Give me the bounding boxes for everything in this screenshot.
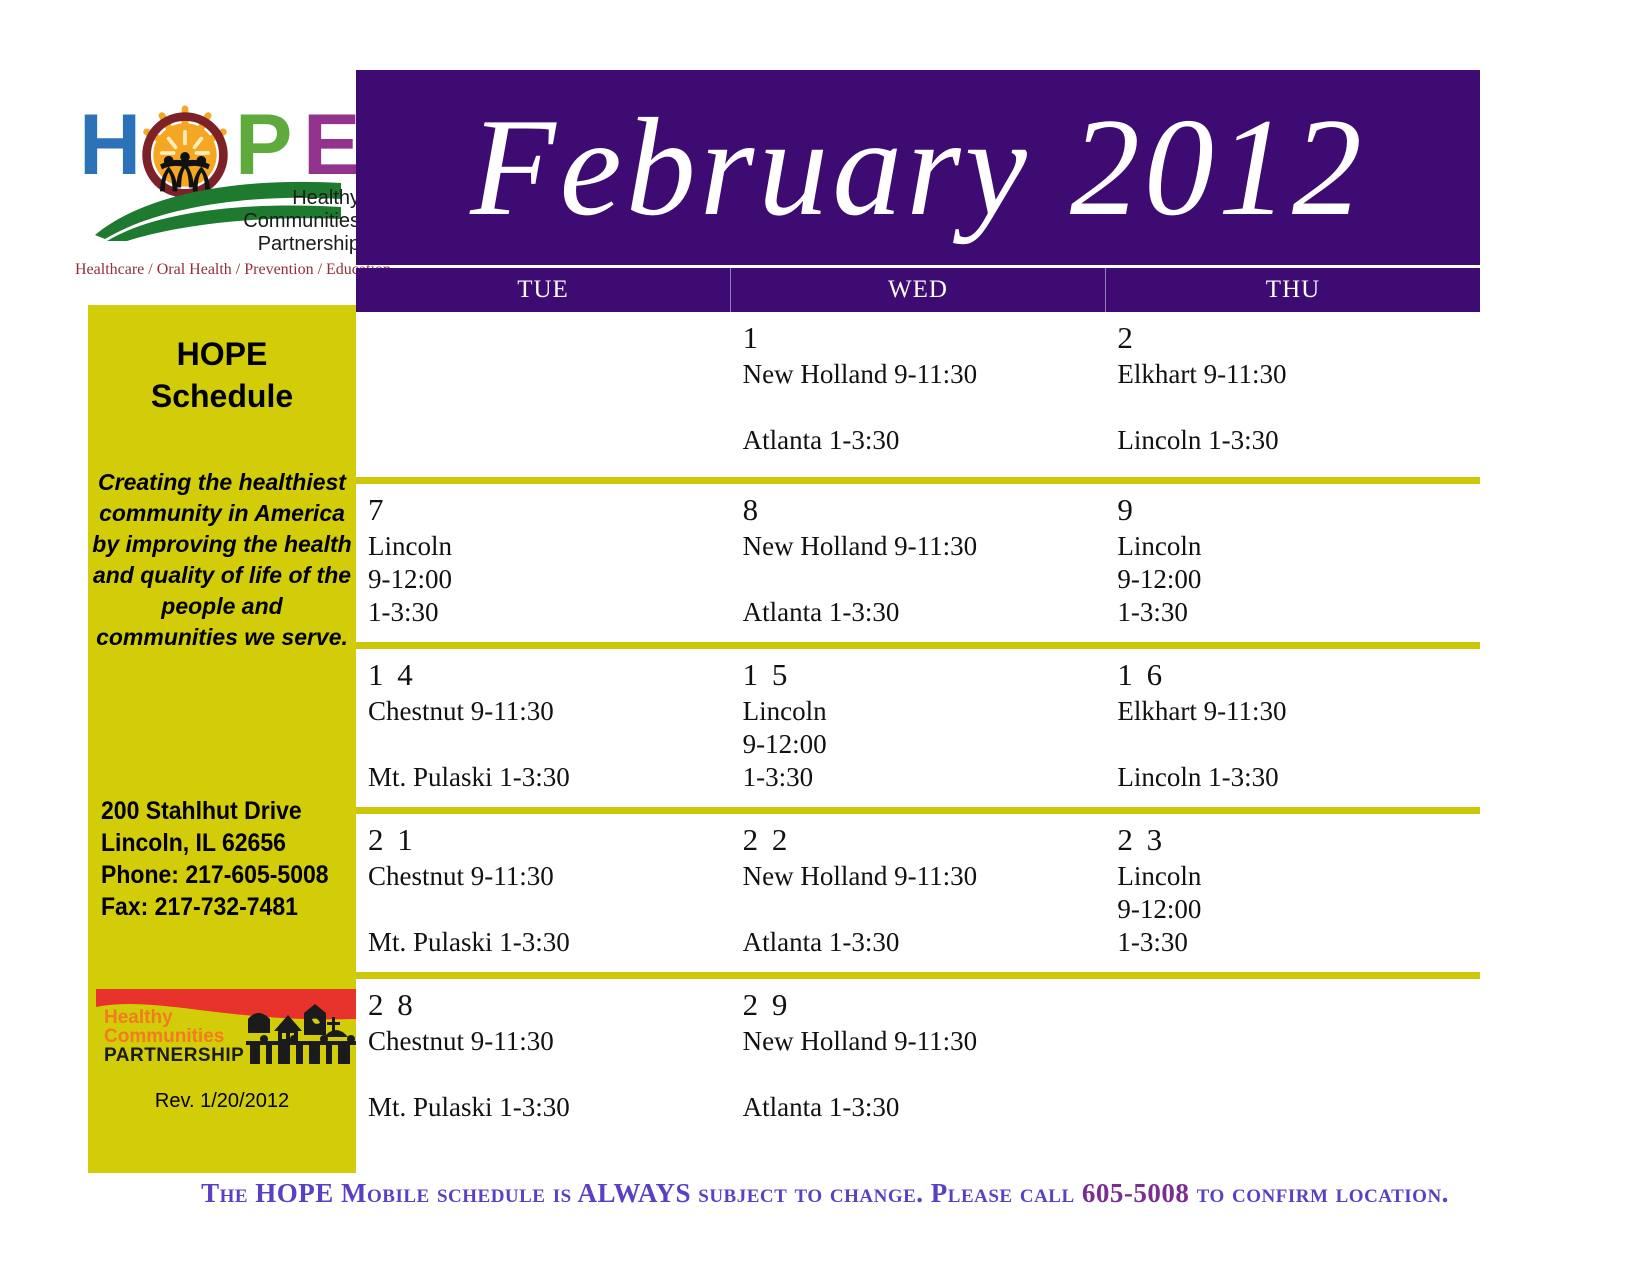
calendar-week-row: 7 Lincoln 9-12:00 1-3:30 8 New Holland 9… — [356, 477, 1480, 642]
day-number: 9 — [1117, 492, 1480, 528]
calendar-week-row: 2 8 Chestnut 9-11:30 Mt. Pulaski 1-3:30 … — [356, 972, 1480, 1137]
calendar-day-cell[interactable]: 1 4 Chestnut 9-11:30 Mt. Pulaski 1-3:30 — [356, 649, 731, 807]
day-header-thu: THU — [1106, 268, 1480, 312]
calendar-day-cell[interactable]: 2 2 New Holland 9-11:30 Atlanta 1-3:30 — [731, 814, 1106, 972]
day-events: Lincoln 9-12:00 1-3:30 — [368, 530, 731, 629]
day-number: 2 — [1117, 320, 1480, 356]
day-number: 1 6 — [1117, 657, 1480, 693]
day-number: 2 2 — [743, 822, 1106, 858]
day-of-week-header-row: TUE WED THU — [356, 268, 1480, 312]
calendar-week-row: 1 New Holland 9-11:30 Atlanta 1-3:30 2 E… — [356, 312, 1480, 477]
day-number: 2 9 — [743, 987, 1106, 1023]
calendar-day-cell[interactable]: 2 3 Lincoln 9-12:00 1-3:30 — [1105, 814, 1480, 972]
footer-text-part-1: The HOPE Mobile schedule is ALWAYS subje… — [201, 1178, 1082, 1208]
calendar-day-cell[interactable]: 1 6 Elkhart 9-11:30 Lincoln 1-3:30 — [1105, 649, 1480, 807]
footer-text-part-2: to confirm location. — [1189, 1178, 1449, 1208]
calendar-day-cell[interactable]: 2 8 Chestnut 9-11:30 Mt. Pulaski 1-3:30 — [356, 979, 731, 1137]
day-number: 1 5 — [743, 657, 1106, 693]
footer-phone-number: 605-5008 — [1082, 1178, 1190, 1208]
calendar-day-cell[interactable]: 7 Lincoln 9-12:00 1-3:30 — [356, 484, 731, 642]
revision-date: Rev. 1/20/2012 — [88, 1090, 356, 1113]
day-events: Lincoln 9-12:00 1-3:30 — [743, 695, 1106, 794]
day-events: New Holland 9-11:30 Atlanta 1-3:30 — [743, 358, 1106, 457]
day-number: 8 — [743, 492, 1106, 528]
calendar-day-cell[interactable]: 9 Lincoln 9-12:00 1-3:30 — [1105, 484, 1480, 642]
day-number: 2 3 — [1117, 822, 1480, 858]
calendar-day-cell[interactable]: 2 9 New Holland 9-11:30 Atlanta 1-3:30 — [731, 979, 1106, 1137]
logo-subtitle: Healthy Communities Partnership — [200, 187, 360, 256]
healthy-communities-partnership-badge-icon: Healthy Communities PARTNERSHIP — [96, 989, 356, 1064]
day-number: 1 — [743, 320, 1106, 356]
page-title: February 2012 — [356, 70, 1480, 265]
day-number: 1 4 — [368, 657, 731, 693]
contact-address-block: 200 Stahlhut Drive Lincoln, IL 62656 Pho… — [101, 795, 336, 923]
badge-line-2: Communities — [104, 1026, 224, 1047]
calendar-day-cell[interactable]: 8 New Holland 9-11:30 Atlanta 1-3:30 — [731, 484, 1106, 642]
day-events: New Holland 9-11:30 Atlanta 1-3:30 — [743, 860, 1106, 959]
month-header-bar: February 2012 — [356, 70, 1480, 265]
calendar-week-row: 2 1 Chestnut 9-11:30 Mt. Pulaski 1-3:30 … — [356, 807, 1480, 972]
hope-logo: H P E — [75, 95, 360, 285]
day-events: Lincoln 9-12:00 1-3:30 — [1117, 530, 1480, 629]
day-events: Elkhart 9-11:30 Lincoln 1-3:30 — [1117, 358, 1480, 457]
calendar-grid: 1 New Holland 9-11:30 Atlanta 1-3:30 2 E… — [356, 312, 1480, 1160]
day-events: Elkhart 9-11:30 Lincoln 1-3:30 — [1117, 695, 1480, 794]
footer-disclaimer: The HOPE Mobile schedule is ALWAYS subje… — [0, 1178, 1650, 1209]
calendar-day-cell[interactable]: 1 New Holland 9-11:30 Atlanta 1-3:30 — [731, 312, 1106, 477]
day-events: Lincoln 9-12:00 1-3:30 — [1117, 860, 1480, 959]
day-number: 2 1 — [368, 822, 731, 858]
day-number: 7 — [368, 492, 731, 528]
calendar-day-cell[interactable]: 2 1 Chestnut 9-11:30 Mt. Pulaski 1-3:30 — [356, 814, 731, 972]
sidebar-panel: HOPE Schedule Creating the healthiest co… — [88, 305, 356, 1173]
calendar-week-row: 1 4 Chestnut 9-11:30 Mt. Pulaski 1-3:30 … — [356, 642, 1480, 807]
day-number: 2 8 — [368, 987, 731, 1023]
logo-subtitle-line-2: Communities — [200, 210, 360, 233]
calendar-day-cell[interactable] — [1105, 979, 1480, 1137]
logo-subtitle-line-1: Healthy — [200, 187, 360, 210]
logo-subtitle-line-3: Partnership — [200, 233, 360, 256]
calendar-day-cell[interactable]: 2 Elkhart 9-11:30 Lincoln 1-3:30 — [1105, 312, 1480, 477]
day-header-wed: WED — [731, 268, 1106, 312]
calendar-day-cell[interactable]: 1 5 Lincoln 9-12:00 1-3:30 — [731, 649, 1106, 807]
day-events: Chestnut 9-11:30 Mt. Pulaski 1-3:30 — [368, 860, 731, 959]
day-events: New Holland 9-11:30 Atlanta 1-3:30 — [743, 530, 1106, 629]
day-events: Chestnut 9-11:30 Mt. Pulaski 1-3:30 — [368, 1025, 731, 1124]
day-header-tue: TUE — [356, 268, 731, 312]
day-events: New Holland 9-11:30 Atlanta 1-3:30 — [743, 1025, 1106, 1124]
sidebar-title: HOPE Schedule — [88, 333, 356, 417]
day-events: Chestnut 9-11:30 Mt. Pulaski 1-3:30 — [368, 695, 731, 794]
mission-statement: Creating the healthiest community in Ame… — [92, 467, 352, 653]
logo-tagline: Healthcare / Oral Health / Prevention / … — [75, 261, 360, 279]
calendar-day-cell[interactable] — [356, 312, 731, 477]
badge-line-3: PARTNERSHIP — [104, 1045, 244, 1064]
badge-line-1: Healthy — [104, 1007, 173, 1028]
